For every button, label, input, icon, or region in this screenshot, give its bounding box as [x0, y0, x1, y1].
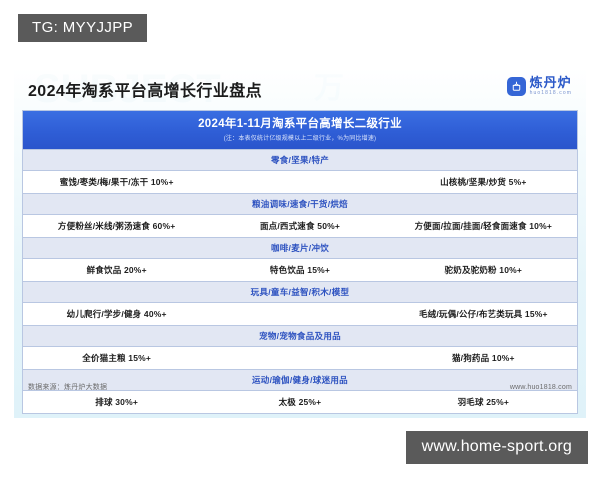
table-row: 鲜食饮品 20%+ 特色饮品 15%+ 驼奶及驼奶粉 10%+	[23, 259, 577, 281]
table-row: 幼儿爬行/学步/健身 40%+ 毛绒/玩偶/公仔/布艺类玩具 15%+	[23, 303, 577, 325]
item-cell: 全价猫主粮 15%+	[25, 352, 208, 364]
report-card: SUBJECT 万 炼 炼 丹 炉 丹 炉 炼 丹 2024年淘系平台高增长行业…	[14, 68, 586, 418]
category-row: 粮油调味/速食/干货/烘焙	[23, 193, 577, 215]
item-cell: 方便粉丝/米线/粥汤速食 60%+	[25, 220, 208, 232]
table-row: 方便粉丝/米线/粥汤速食 60%+ 面点/西式速食 50%+ 方便面/拉面/挂面…	[23, 215, 577, 237]
item-cell: 驼奶及驼奶粉 10%+	[392, 264, 575, 276]
table-header-note: (注：本表仅统计亿级规模以上二级行业，%为同比增速)	[27, 136, 573, 143]
tg-tag-badge: TG: MYYJJPP	[18, 14, 147, 42]
item-cell: 鲜食饮品 20%+	[25, 264, 208, 276]
item-cell: 特色饮品 15%+	[208, 264, 391, 276]
item-cell: 方便面/拉面/挂面/轻食面速食 10%+	[392, 220, 575, 232]
item-cell: 面点/西式速食 50%+	[208, 220, 391, 232]
item-cell: 毛绒/玩偶/公仔/布艺类玩具 15%+	[392, 308, 575, 320]
item-cell: 山核桃/坚果/炒货 5%+	[392, 176, 575, 188]
table-row: 全价猫主粮 15%+ 猫/狗药品 10%+	[23, 347, 577, 369]
card-footer: 数据来源：炼丹炉大数据 www.huo1818.com	[14, 378, 586, 396]
table-header: 2024年1-11月淘系平台高增长二级行业 (注：本表仅统计亿级规模以上二级行业…	[23, 111, 577, 149]
item-cell: 蜜饯/枣类/梅/果干/冻干 10%+	[25, 176, 208, 188]
item-cell: 猫/狗药品 10%+	[392, 352, 575, 364]
category-row: 咖啡/麦片/冲饮	[23, 237, 577, 259]
industry-table: 2024年1-11月淘系平台高增长二级行业 (注：本表仅统计亿级规模以上二级行业…	[22, 110, 578, 414]
category-row: 零食/坚果/特产	[23, 149, 577, 171]
table-header-title: 2024年1-11月淘系平台高增长二级行业	[27, 118, 573, 132]
item-cell: 排球 30%+	[25, 396, 208, 408]
card-header: 2024年淘系平台高增长行业盘点 炼丹炉 huo1818.com	[14, 68, 586, 110]
brand-logo: 炼丹炉 huo1818.com	[507, 76, 572, 96]
site-url-label: www.huo1818.com	[510, 384, 572, 391]
brand-url: huo1818.com	[530, 91, 572, 96]
table-row: 蜜饯/枣类/梅/果干/冻干 10%+ 山核桃/坚果/炒货 5%+	[23, 171, 577, 193]
item-cell: 幼儿爬行/学步/健身 40%+	[25, 308, 208, 320]
page-title: 2024年淘系平台高增长行业盘点	[28, 77, 262, 101]
item-cell: 羽毛球 25%+	[392, 396, 575, 408]
item-cell: 太极 25%+	[208, 396, 391, 408]
data-source-label: 数据来源：炼丹炉大数据	[28, 382, 107, 392]
brand-name: 炼丹炉	[530, 76, 572, 89]
site-watermark-badge: www.home-sport.org	[406, 431, 588, 464]
brand-logo-text: 炼丹炉 huo1818.com	[530, 76, 572, 96]
furnace-icon	[507, 77, 526, 96]
category-row: 宠物/宠物食品及用品	[23, 325, 577, 347]
category-row: 玩具/童车/益智/积木/模型	[23, 281, 577, 303]
